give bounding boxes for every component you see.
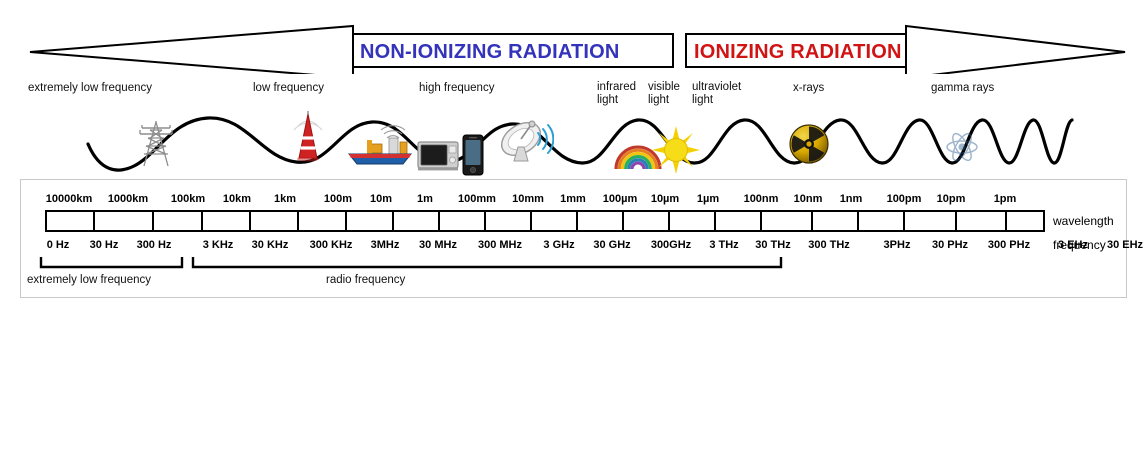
frequency-tick-300mhz: 300 MHz xyxy=(478,239,522,251)
frequency-tick-3mhz: 3MHz xyxy=(371,239,400,251)
wavelength-tick-1km: 1km xyxy=(274,193,296,205)
frequency-tick-30hz: 30 Hz xyxy=(90,239,119,251)
frequency-tick-30ghz: 30 GHz xyxy=(593,239,630,251)
non-ionizing-arrow-tail xyxy=(30,26,353,74)
frequency-tick-300ghz: 300GHz xyxy=(651,239,691,251)
frequency-tick-30thz: 30 THz xyxy=(755,239,790,251)
wavelength-axis-label: wavelength xyxy=(1053,214,1114,228)
wavelength-tick-100pm: 100pm xyxy=(887,193,922,205)
spectrum-ruler xyxy=(45,210,1045,232)
radio-tower-icon xyxy=(288,110,328,162)
ruler-tick xyxy=(152,212,154,230)
wavelength-tick-100um: 100µm xyxy=(603,193,637,205)
power-pylon-icon xyxy=(135,120,177,168)
wavelength-tick-100nm: 100nm xyxy=(744,193,779,205)
wavelength-tick-100m: 100m xyxy=(324,193,352,205)
frequency-tick-3khz: 3 KHz xyxy=(203,239,234,251)
non-ionizing-radiation-label: NON-IONIZING RADIATION xyxy=(360,41,620,64)
wavelength-tick-10nm: 10nm xyxy=(794,193,823,205)
ruler-tick xyxy=(622,212,624,230)
category-low-frequency: low frequency xyxy=(253,82,324,95)
ruler-tick xyxy=(576,212,578,230)
frequency-axis-label: frequency xyxy=(1053,238,1106,252)
microwave-oven-icon xyxy=(417,141,459,171)
wavelength-tick-10um: 10µm xyxy=(651,193,679,205)
frequency-tick-300phz: 300 PHz xyxy=(988,239,1030,251)
wave-path xyxy=(88,118,1072,170)
ruler-tick xyxy=(201,212,203,230)
wavelength-tick-100mm: 100mm xyxy=(458,193,496,205)
ruler-tick xyxy=(93,212,95,230)
wavelength-tick-10000km: 10000km xyxy=(46,193,93,205)
frequency-tick-30phz: 30 PHz xyxy=(932,239,968,251)
ruler-tick xyxy=(438,212,440,230)
extremely-low-frequency-bracket-label: extremely low frequency xyxy=(27,274,151,286)
frequency-tick-30mhz: 30 MHz xyxy=(419,239,457,251)
ruler-tick xyxy=(903,212,905,230)
ruler-tick xyxy=(1005,212,1007,230)
mobile-phone-icon xyxy=(462,134,484,176)
radio-frequency-bracket-label: radio frequency xyxy=(326,274,405,286)
frequency-tick-300khz: 300 KHz xyxy=(310,239,353,251)
ruler-tick xyxy=(857,212,859,230)
wavelength-tick-1m: 1m xyxy=(417,193,433,205)
ruler-tick xyxy=(668,212,670,230)
wavelength-tick-10pm: 10pm xyxy=(937,193,966,205)
wavelength-tick-1nm: 1nm xyxy=(840,193,863,205)
ruler-tick xyxy=(955,212,957,230)
ruler-tick xyxy=(392,212,394,230)
category-extremely-low-frequency: extremely low frequency xyxy=(28,82,152,95)
wavelength-tick-1pm: 1pm xyxy=(994,193,1017,205)
category-x-rays: x-rays xyxy=(793,82,824,95)
ruler-tick xyxy=(760,212,762,230)
ship-icon xyxy=(345,124,415,166)
radiation-hazard-icon xyxy=(789,124,829,164)
frequency-tick-3thz: 3 THz xyxy=(709,239,738,251)
ruler-tick xyxy=(297,212,299,230)
wavelength-tick-10mm: 10mm xyxy=(512,193,544,205)
ionizing-arrow-head xyxy=(906,26,1125,74)
wavelength-tick-1um: 1µm xyxy=(697,193,719,205)
wavelength-tick-100km: 100km xyxy=(171,193,205,205)
diagram-canvas: NON-IONIZING RADIATION IONIZING RADIATIO… xyxy=(0,0,1147,463)
frequency-tick-300thz: 300 THz xyxy=(808,239,850,251)
ruler-tick xyxy=(811,212,813,230)
ruler-tick xyxy=(530,212,532,230)
frequency-tick-0hz: 0 Hz xyxy=(47,239,70,251)
wavelength-tick-1mm: 1mm xyxy=(560,193,586,205)
spectrum-scale-panel: 10000km 1000km 100km 10km 1km 100m 10m 1… xyxy=(20,179,1127,298)
ruler-tick xyxy=(249,212,251,230)
frequency-tick-3ghz: 3 GHz xyxy=(543,239,574,251)
radio-frequency-bracket xyxy=(191,257,783,271)
frequency-tick-30ehz: 30 EHz xyxy=(1107,239,1143,251)
category-high-frequency: high frequency xyxy=(419,82,494,95)
category-gamma-rays: gamma rays xyxy=(931,82,994,95)
extremely-low-frequency-bracket xyxy=(39,257,184,271)
wavelength-tick-10km: 10km xyxy=(223,193,251,205)
satellite-dish-icon xyxy=(498,113,554,167)
sun-icon xyxy=(652,126,700,174)
atom-icon xyxy=(945,130,979,164)
frequency-tick-3phz: 3PHz xyxy=(884,239,911,251)
ruler-tick xyxy=(714,212,716,230)
ionizing-radiation-label: IONIZING RADIATION xyxy=(694,41,902,64)
ruler-tick xyxy=(345,212,347,230)
wavelength-tick-1000km: 1000km xyxy=(108,193,148,205)
ruler-tick xyxy=(484,212,486,230)
frequency-tick-300hz: 300 Hz xyxy=(137,239,172,251)
wavelength-tick-10m: 10m xyxy=(370,193,392,205)
frequency-tick-30khz: 30 KHz xyxy=(252,239,289,251)
